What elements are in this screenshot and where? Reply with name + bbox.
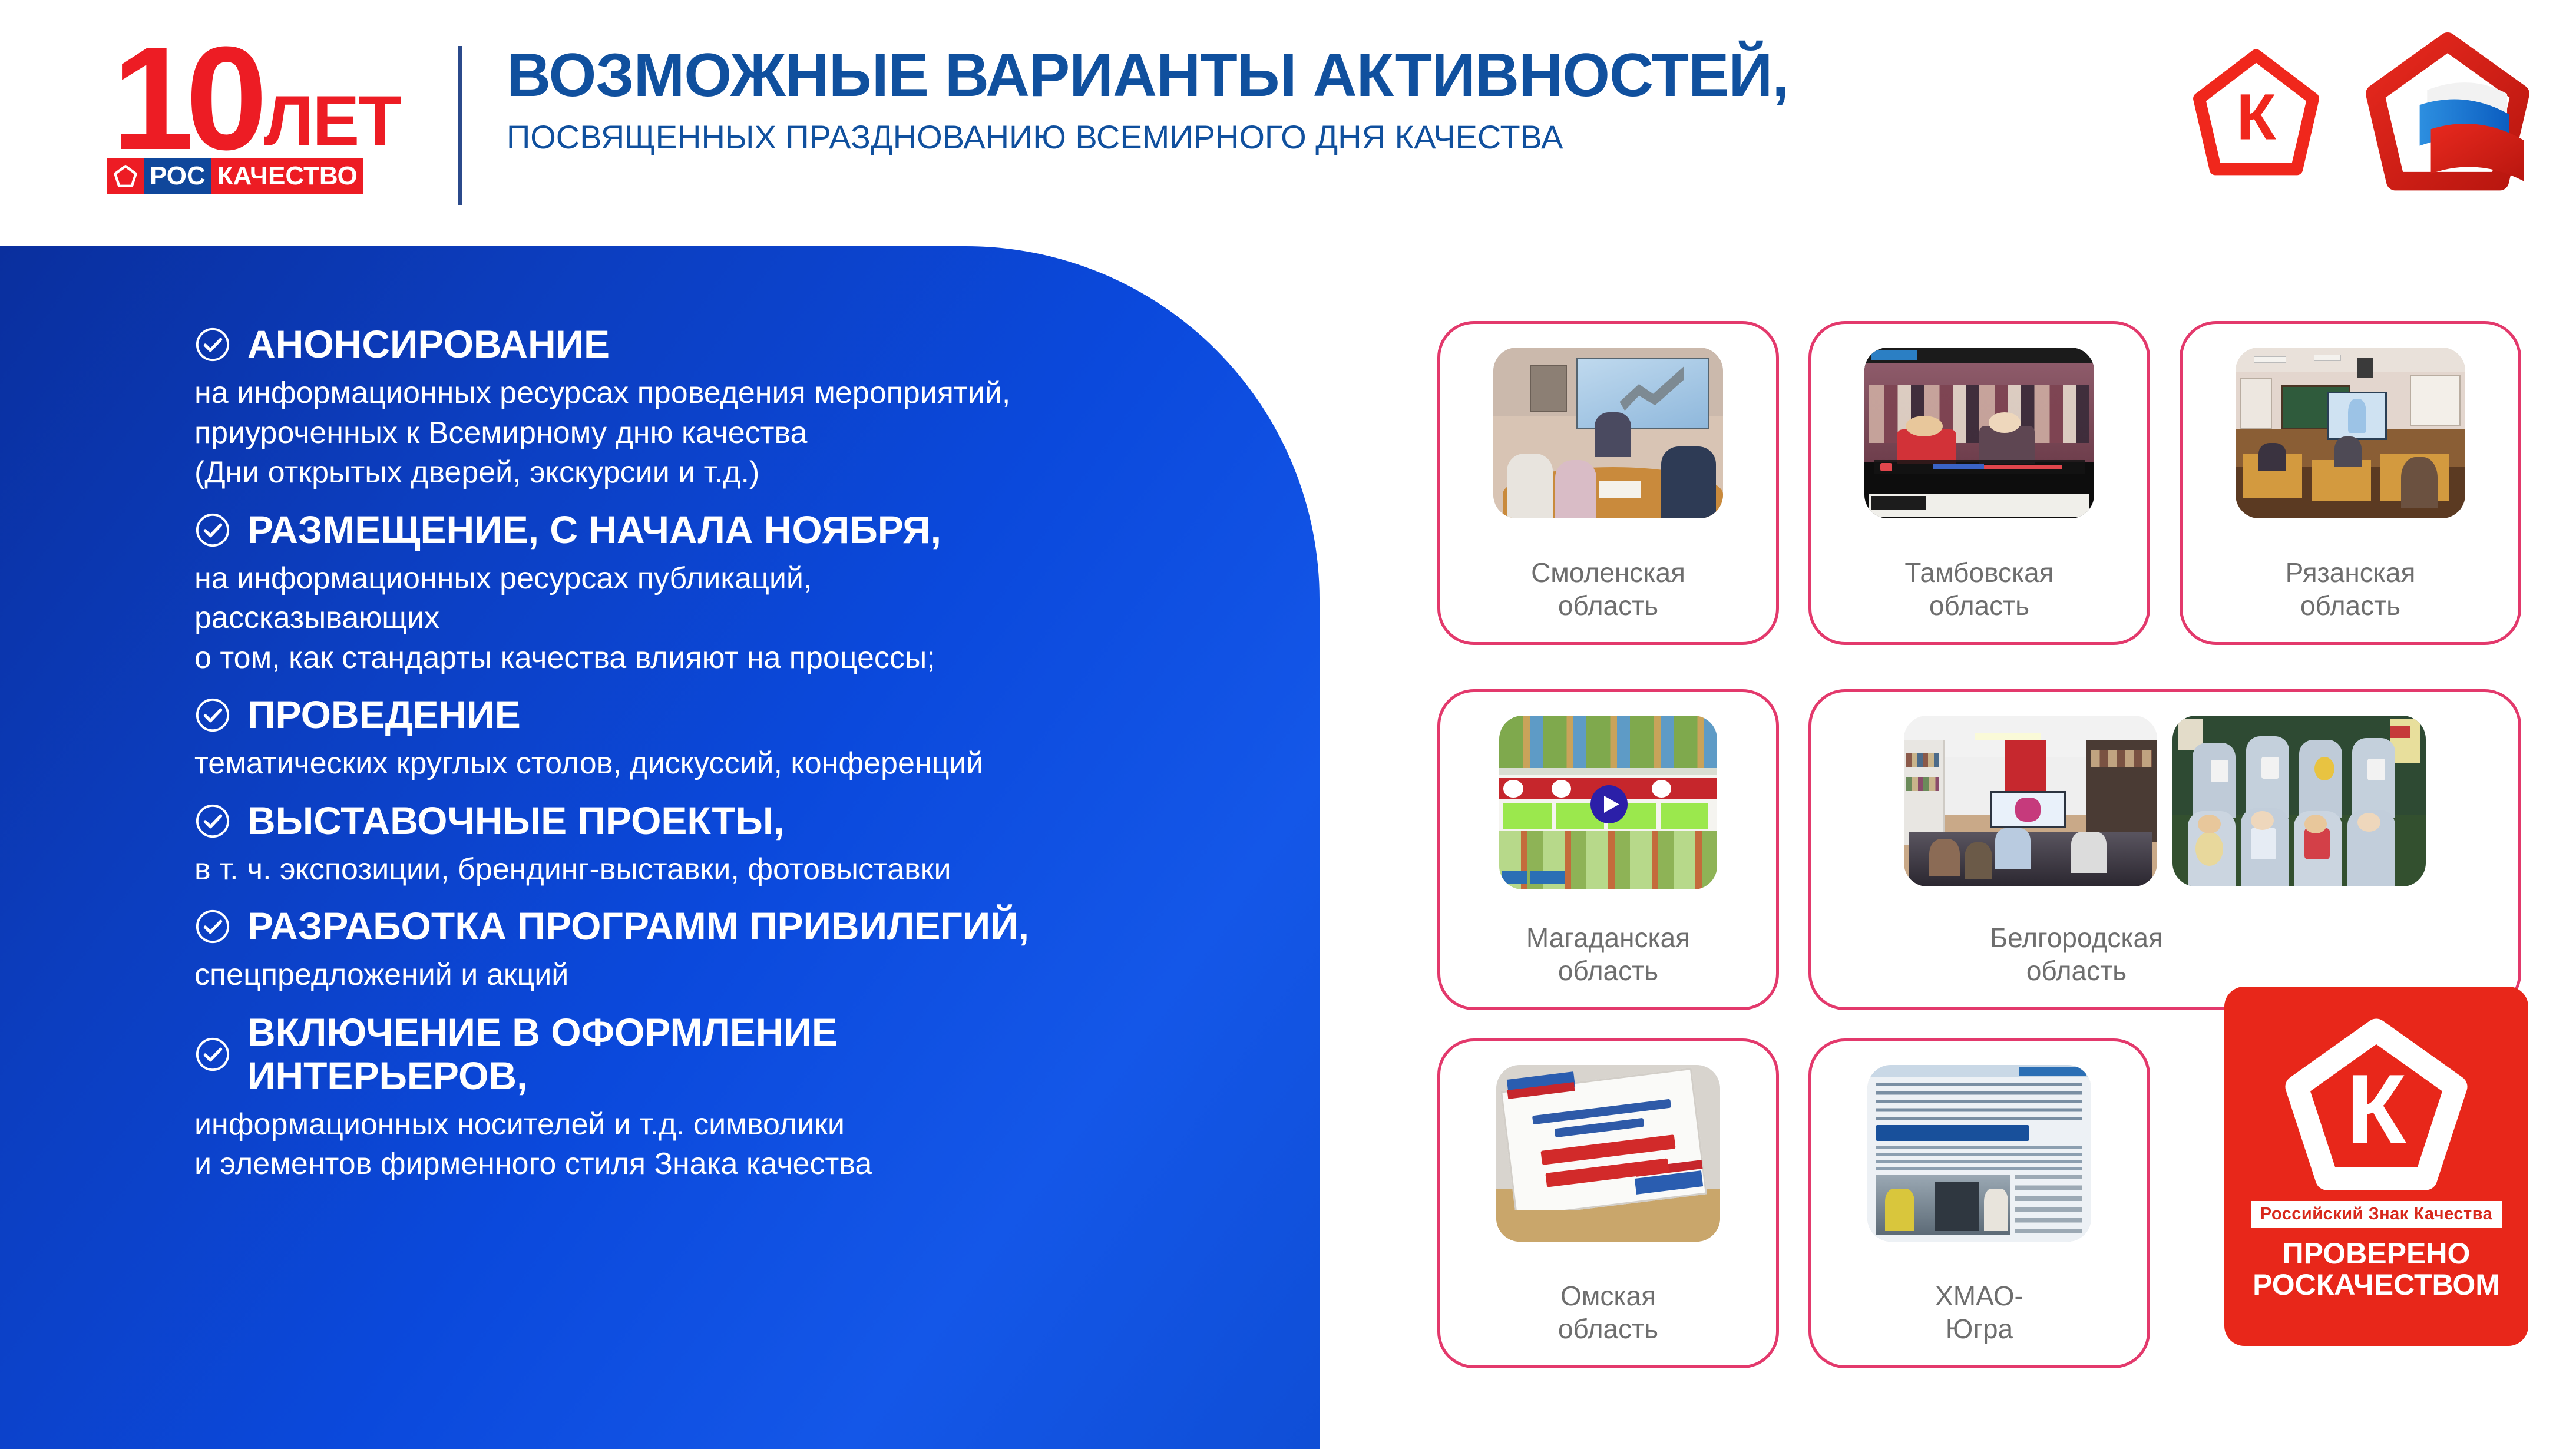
svg-text:К: К — [2236, 81, 2276, 153]
region-card-tambov[interactable]: Тамбовская область — [1808, 321, 2150, 645]
list-item-title: АНОНСИРОВАНИЕ — [247, 323, 610, 366]
list-item-header: ПРОВЕДЕНИЕ — [194, 693, 1231, 737]
region-card-label: Смоленская область — [1531, 556, 1685, 622]
list-item: ПРОВЕДЕНИЕ тематических круглых столов, … — [194, 693, 1231, 784]
region-card-label: Омская область — [1558, 1279, 1658, 1345]
region-photo — [1493, 348, 1723, 518]
region-photo-pair — [1904, 716, 2426, 886]
anniversary-number: 10 — [112, 25, 259, 172]
activities-panel: АНОНСИРОВАНИЕ на информационных ресурсах… — [0, 246, 1320, 1449]
list-item-title: РАЗМЕЩЕНИЕ, С НАЧАЛА НОЯБРЯ, — [247, 508, 941, 552]
brand-ros: РОС — [144, 158, 211, 194]
list-item-header: РАЗРАБОТКА ПРОГРАММ ПРИВИЛЕГИЙ, — [194, 905, 1231, 948]
russia-flag-ribbon-icon — [2350, 32, 2545, 209]
quality-mark-k-icon: К — [2188, 47, 2324, 183]
list-item-title: РАЗРАБОТКА ПРОГРАММ ПРИВИЛЕГИЙ, — [247, 905, 1029, 948]
region-photo — [1904, 716, 2157, 886]
list-item-body: на информационных ресурсах публикаций, р… — [194, 559, 1231, 679]
region-photo — [2236, 348, 2465, 518]
pentagon-icon — [107, 158, 144, 194]
list-item-header: ВЫСТАВОЧНЫЕ ПРОЕКТЫ, — [194, 799, 1231, 843]
check-circle-icon — [194, 512, 231, 548]
region-card-magadan[interactable]: Магаданская область — [1437, 689, 1779, 1010]
list-item-body: в т. ч. экспозиции, брендинг-выставки, ф… — [194, 850, 1231, 890]
list-item: ВКЛЮЧЕНИЕ В ОФОРМЛЕНИЕ ИНТЕРЬЕРОВ, инфор… — [194, 1011, 1231, 1185]
page-title: ВОЗМОЖНЫЕ ВАРИАНТЫ АКТИВНОСТЕЙ, — [507, 41, 2097, 110]
check-circle-icon — [194, 697, 231, 733]
check-circle-icon — [194, 908, 231, 945]
region-card-label: Рязанская область — [2286, 556, 2416, 622]
check-circle-icon — [194, 803, 231, 839]
region-card-belgorod[interactable]: Белгородская область — [1808, 689, 2521, 1010]
header-divider — [458, 46, 462, 205]
list-item-title: ВЫСТАВОЧНЫЕ ПРОЕКТЫ, — [247, 799, 785, 843]
region-photo — [1499, 716, 1717, 889]
list-item: АНОНСИРОВАНИЕ на информационных ресурсах… — [194, 323, 1231, 493]
region-photo — [1496, 1065, 1720, 1242]
region-card-omsk[interactable]: Омская область — [1437, 1038, 1779, 1368]
region-photo — [1864, 348, 2094, 518]
list-item-header: ВКЛЮЧЕНИЕ В ОФОРМЛЕНИЕ ИНТЕРЬЕРОВ, — [194, 1011, 1231, 1098]
region-card-label: Тамбовская область — [1904, 556, 2053, 622]
svg-text:К: К — [2346, 1054, 2407, 1165]
region-card-smolensk[interactable]: Смоленская область — [1437, 321, 1779, 645]
list-item: ВЫСТАВОЧНЫЕ ПРОЕКТЫ, в т. ч. экспозиции,… — [194, 799, 1231, 890]
list-item: РАЗРАБОТКА ПРОГРАММ ПРИВИЛЕГИЙ, спецпред… — [194, 905, 1231, 995]
slide-header: 10 ЛЕТ РОС КАЧЕСТВО ВОЗМОЖНЫЕ ВАРИАНТЫ А… — [0, 0, 2576, 247]
region-card-label: Белгородская область — [1990, 921, 2163, 987]
list-item: РАЗМЕЩЕНИЕ, С НАЧАЛА НОЯБРЯ, на информац… — [194, 508, 1231, 679]
region-photo — [1867, 1065, 2091, 1242]
anniversary-logo: 10 ЛЕТ РОС КАЧЕСТВО — [94, 29, 442, 200]
list-item-body: тематических круглых столов, дискуссий, … — [194, 744, 1231, 784]
list-item-body: информационных носителей и т.д. символик… — [194, 1105, 1231, 1185]
roskachestvo-wordmark: РОС КАЧЕСТВО — [107, 158, 363, 194]
list-item-title: ВКЛЮЧЕНИЕ В ОФОРМЛЕНИЕ ИНТЕРЬЕРОВ, — [247, 1011, 838, 1098]
list-item-body: спецпредложений и акций — [194, 955, 1231, 995]
check-circle-icon — [194, 1036, 231, 1073]
region-card-hmao[interactable]: ХМАО- Югра — [1808, 1038, 2150, 1368]
badge-title: ПРОВЕРЕНО РОСКАЧЕСТВОМ — [2253, 1238, 2500, 1301]
list-item-body: на информационных ресурсах проведения ме… — [194, 373, 1231, 493]
list-item-header: РАЗМЕЩЕНИЕ, С НАЧАЛА НОЯБРЯ, — [194, 508, 1231, 552]
region-card-ryazan[interactable]: Рязанская область — [2180, 321, 2521, 645]
slide-root: 10 ЛЕТ РОС КАЧЕСТВО ВОЗМОЖНЫЕ ВАРИАНТЫ А… — [0, 0, 2576, 1449]
list-item-header: АНОНСИРОВАНИЕ — [194, 323, 1231, 366]
region-card-label: Магаданская область — [1526, 921, 1690, 987]
quality-mark-badge: К Российский Знак Качества ПРОВЕРЕНО РОС… — [2224, 987, 2528, 1346]
header-text-group: ВОЗМОЖНЫЕ ВАРИАНТЫ АКТИВНОСТЕЙ, ПОСВЯЩЕН… — [507, 41, 2097, 156]
anniversary-word: ЛЕТ — [264, 85, 401, 156]
check-circle-icon — [194, 326, 231, 363]
quality-mark-pentagon-icon: К — [2279, 1016, 2474, 1193]
region-photo — [2172, 716, 2426, 886]
list-item-title: ПРОВЕДЕНИЕ — [247, 693, 521, 737]
brand-kachestvo: КАЧЕСТВО — [211, 158, 363, 194]
badge-subtitle: Российский Знак Качества — [2251, 1201, 2502, 1228]
activities-list: АНОНСИРОВАНИЕ на информационных ресурсах… — [194, 323, 1231, 1200]
region-card-label: ХМАО- Югра — [1935, 1279, 2023, 1345]
page-subtitle: ПОСВЯЩЕННЫХ ПРАЗДНОВАНИЮ ВСЕМИРНОГО ДНЯ … — [507, 118, 2097, 156]
